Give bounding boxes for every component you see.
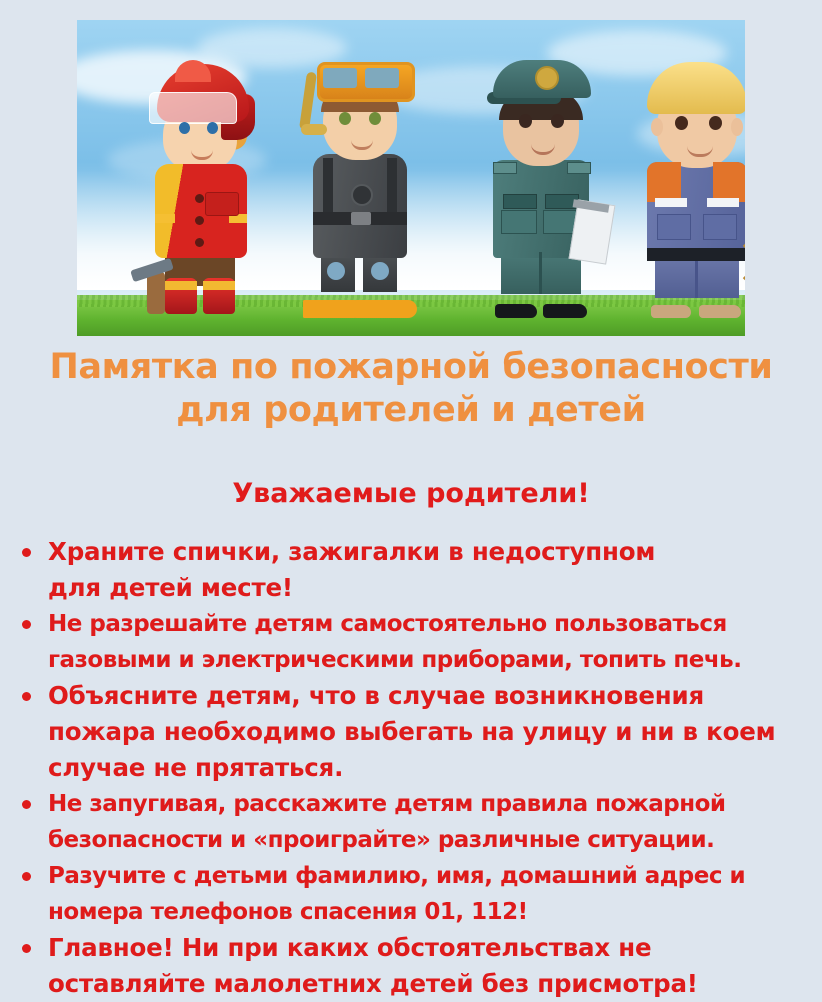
list-item-line: безопасности и «проиграйте» различные си… [48, 822, 822, 858]
eye-shape [207, 122, 218, 134]
jacket-pocket [501, 210, 537, 234]
coat-button [195, 194, 204, 203]
advice-list: Храните спички, зажигалки в недоступном … [0, 534, 822, 1002]
list-item-line: пожара необходимо выбегать на улицу и ни… [48, 714, 822, 750]
belt-buckle [351, 212, 371, 225]
eye-shape [369, 112, 381, 125]
title-line-1: Памятка по пожарной безопасности [20, 346, 802, 389]
character-diver-boy [295, 62, 423, 314]
list-item: Разучите с детьми фамилию, имя, домашний… [0, 858, 822, 930]
shoe-shape [651, 305, 691, 318]
eye-shape [675, 116, 688, 130]
utility-belt [647, 248, 745, 261]
eye-shape [179, 122, 190, 134]
swim-fin-icon [355, 300, 417, 318]
cap-badge-icon [535, 66, 559, 90]
shoe-shape [699, 305, 741, 318]
list-item-line: Главное! Ни при каких обстоятельствах не [48, 930, 822, 966]
list-item-line: для детей месте! [48, 570, 822, 606]
reflective-stripe [655, 198, 687, 207]
boot-band [165, 281, 197, 290]
snorkel-icon [299, 72, 317, 131]
snorkel-mouthpiece [301, 124, 327, 135]
knee-pad [371, 262, 389, 280]
chest-patch [503, 194, 537, 209]
coat-button [195, 216, 204, 225]
poster-page: Памятка по пожарной безопасности для род… [0, 0, 822, 1000]
shoe-shape [495, 304, 537, 318]
bullet-dot-icon [22, 800, 31, 809]
fire-hose-shape [147, 272, 165, 314]
page-title: Памятка по пожарной безопасности для род… [20, 346, 802, 432]
coat-button [195, 238, 204, 247]
jacket-pocket [703, 214, 737, 240]
bullet-dot-icon [22, 872, 31, 881]
subtitle-text: Уважаемые родители! [0, 478, 822, 510]
list-item: Объясните детям, что в случае возникнове… [0, 678, 822, 786]
shoulder-panel [713, 162, 745, 202]
bullet-dot-icon [22, 620, 31, 629]
eye-shape [339, 112, 351, 125]
reflective-stripe [155, 214, 175, 223]
mask-lens [365, 68, 399, 88]
list-item-line: Не запугивая, расскажите детям правила п… [48, 786, 822, 822]
epaulette [567, 162, 591, 174]
swim-fin-icon [303, 300, 363, 318]
shoulder-panel [647, 162, 681, 202]
helmet-visor [149, 92, 237, 124]
character-rescuer-boy [633, 62, 745, 314]
tank-strap [323, 158, 333, 212]
list-item-line: Разучите с детьми фамилию, имя, домашний… [48, 858, 822, 894]
eye-shape [519, 114, 532, 128]
list-item-line: оставляйте малолетних детей без присмотр… [48, 966, 822, 1002]
list-item-line: Храните спички, зажигалки в недоступном [48, 534, 822, 570]
title-line-2: для родителей и детей [20, 389, 802, 432]
list-item: Храните спички, зажигалки в недоступном … [0, 534, 822, 606]
list-item-line: газовыми и электрическими приборами, топ… [48, 642, 822, 678]
reflective-stripe [707, 198, 739, 207]
character-firefighter-boy [135, 64, 265, 314]
eye-shape [551, 114, 564, 128]
character-officer-boy [477, 60, 603, 314]
list-item-line: Объясните детям, что в случае возникнове… [48, 678, 822, 714]
trouser-seam [695, 258, 698, 298]
bullet-dot-icon [22, 692, 31, 701]
bullet-dot-icon [22, 548, 31, 557]
eye-shape [709, 116, 722, 130]
illustration-image [77, 20, 745, 336]
trouser-seam [539, 252, 542, 294]
knee-pad [327, 262, 345, 280]
list-item-line: случае не прятаться. [48, 750, 822, 786]
boot-band [203, 281, 235, 290]
ear-shape [731, 118, 743, 136]
bullet-dot-icon [22, 944, 31, 953]
list-item-line: номера телефонов спасения 01, 112! [48, 894, 822, 930]
list-item: Главное! Ни при каких обстоятельствах не… [0, 930, 822, 1002]
shoe-shape [543, 304, 587, 318]
list-item-line: Не разрешайте детям самостоятельно польз… [48, 606, 822, 642]
suit-valve [351, 184, 373, 206]
list-item: Не запугивая, расскажите детям правила п… [0, 786, 822, 858]
hair-shape [647, 62, 745, 114]
epaulette [493, 162, 517, 174]
jacket-pocket [657, 214, 691, 240]
tank-strap [387, 158, 397, 212]
list-item: Не разрешайте детям самостоятельно польз… [0, 606, 822, 678]
ear-shape [651, 118, 663, 136]
coat-pocket [205, 192, 239, 216]
mask-lens [323, 68, 357, 88]
